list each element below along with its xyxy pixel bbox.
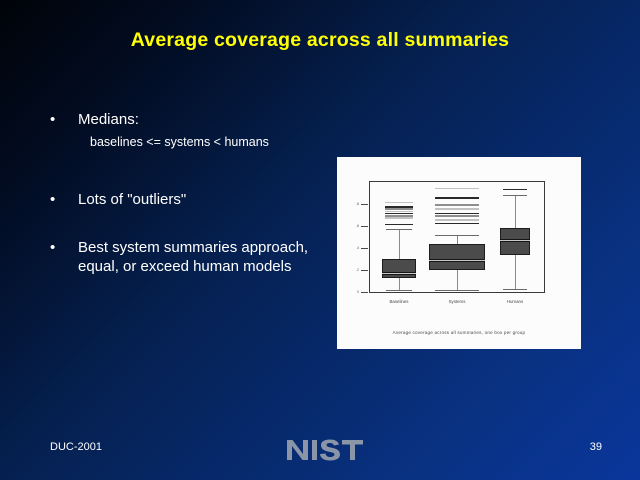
outlier-marker	[435, 188, 480, 190]
bullet-marker: •	[50, 190, 55, 209]
slide-canvas: Average coverage across all summaries • …	[0, 0, 640, 480]
outlier-marker	[385, 215, 412, 217]
outlier-marker	[435, 208, 480, 210]
whisker-cap	[503, 289, 526, 290]
outlier-marker	[385, 224, 412, 226]
bullet-text: Medians:	[78, 111, 139, 128]
y-axis-tick-label: .4	[346, 246, 359, 250]
x-axis-tick-label: Humans	[487, 299, 543, 304]
y-axis-tick	[361, 248, 368, 249]
list-item: • Best system summaries approach, equal,…	[46, 238, 346, 276]
y-axis-tick	[361, 204, 368, 205]
spacer	[46, 209, 346, 238]
whisker-cap	[386, 290, 412, 291]
y-axis-tick	[361, 292, 368, 293]
outlier-marker	[385, 213, 412, 215]
box	[382, 259, 416, 278]
outlier-marker	[385, 217, 412, 219]
y-axis-tick	[361, 270, 368, 271]
nist-logo	[286, 437, 364, 463]
y-axis-tick-label: 0	[346, 290, 359, 294]
outlier-marker	[385, 208, 412, 210]
outlier-marker	[503, 189, 527, 191]
box	[429, 244, 485, 270]
page-title: Average coverage across all summaries	[0, 29, 640, 52]
outlier-marker	[435, 223, 480, 225]
y-axis-tick	[361, 226, 368, 227]
outlier-marker	[435, 213, 480, 215]
bullet-text: Best system summaries approach, equal, o…	[78, 239, 308, 275]
whisker-cap	[503, 195, 526, 196]
outlier-marker	[435, 204, 480, 206]
outlier-marker	[385, 206, 412, 208]
list-item: • Lots of "outliers"	[46, 190, 346, 209]
bullet-marker: •	[50, 238, 55, 257]
outlier-marker	[385, 202, 412, 204]
spacer	[46, 151, 346, 190]
bullet-subtext: baselines <= systems < humans	[46, 134, 346, 151]
x-axis-tick-label: Baselines	[371, 299, 427, 304]
whisker-cap	[435, 290, 478, 291]
whisker-cap	[435, 235, 478, 236]
outlier-marker	[435, 219, 480, 221]
plot-area: 0.2.4.6.8BaselinesSystemsHumans	[369, 181, 545, 293]
bullet-text: Lots of "outliers"	[78, 191, 186, 208]
outlier-marker	[385, 211, 412, 213]
bullet-marker: •	[50, 110, 55, 129]
y-axis-tick-label: .8	[346, 202, 359, 206]
median-line	[500, 239, 530, 242]
outlier-marker	[435, 215, 480, 217]
median-line	[382, 272, 416, 275]
y-axis-tick-label: .6	[346, 224, 359, 228]
y-axis-tick-label: .2	[346, 268, 359, 272]
outlier-marker	[435, 197, 480, 199]
median-line	[429, 259, 485, 262]
bullet-list: • Medians: baselines <= systems < humans…	[46, 110, 346, 276]
x-axis-tick-label: Systems	[429, 299, 485, 304]
boxplot-figure: 0.2.4.6.8BaselinesSystemsHumans Average …	[337, 157, 581, 349]
figure-caption: Average coverage across all summaries, o…	[337, 330, 581, 335]
footer-label: DUC-2001	[50, 441, 102, 453]
whisker-cap	[386, 229, 412, 230]
list-item: • Medians:	[46, 110, 346, 129]
page-number: 39	[590, 441, 602, 453]
